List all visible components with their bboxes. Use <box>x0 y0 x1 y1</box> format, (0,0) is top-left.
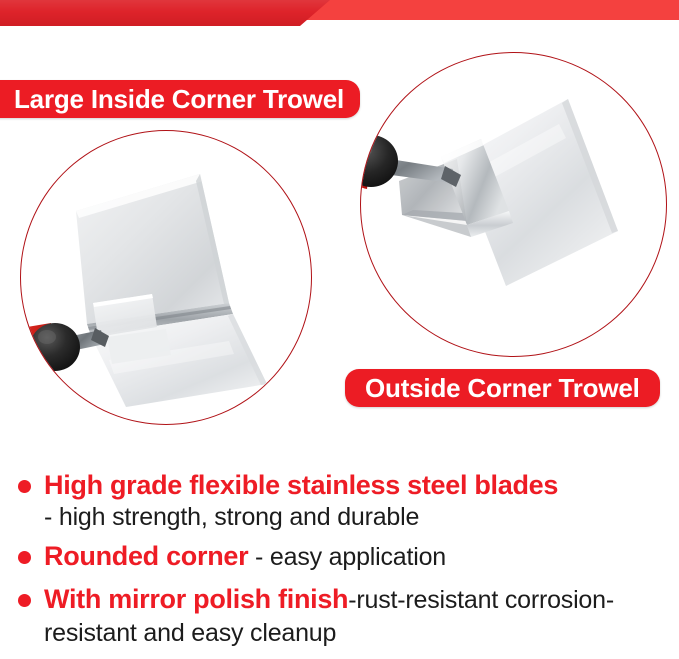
banner-light-stripe <box>300 0 679 20</box>
feature-text-rounded-corner: Rounded corner - easy application <box>44 541 668 573</box>
inside-trowel-handle <box>22 323 80 373</box>
outside-corner-trowel-photo <box>360 52 667 357</box>
feature-detail: -rust-resistant corrosion- <box>348 586 614 614</box>
bullet-dot-icon <box>18 551 31 564</box>
feature-list: High grade flexible stainless steel blad… <box>18 470 668 648</box>
inside-corner-trowel-illustration <box>21 131 311 424</box>
feature-text-mirror-polish: With mirror polish finish-rust-resistant… <box>44 584 668 616</box>
spacer <box>18 575 668 584</box>
badge-large-inside-corner-trowel: Large Inside Corner Trowel <box>0 80 360 118</box>
feature-detail: - easy application <box>248 543 446 571</box>
inside-corner-trowel-photo <box>20 130 312 425</box>
top-accent-banner <box>0 0 679 26</box>
feature-subtext-mirror-polish: resistant and easy cleanup <box>18 618 668 648</box>
feature-text-blades: High grade flexible stainless steel blad… <box>44 470 668 502</box>
feature-headline: With mirror polish finish <box>44 584 348 614</box>
outside-corner-trowel-illustration <box>361 53 666 356</box>
banner-sheen-overlay <box>0 0 330 26</box>
bullet-dot-icon <box>18 480 31 493</box>
feature-item-rounded-corner: Rounded corner - easy application <box>18 541 668 573</box>
feature-headline: Rounded corner <box>44 541 248 571</box>
badge-outside-corner-trowel: Outside Corner Trowel <box>345 369 660 407</box>
bullet-dot-icon <box>18 594 31 607</box>
spacer <box>18 532 668 541</box>
outside-trowel-handle <box>361 127 398 189</box>
feature-item-mirror-polish: With mirror polish finish-rust-resistant… <box>18 584 668 616</box>
feature-subtext-blades: - high strength, strong and durable <box>18 502 668 532</box>
feature-headline: High grade flexible stainless steel blad… <box>44 470 558 500</box>
feature-item-blades: High grade flexible stainless steel blad… <box>18 470 668 502</box>
